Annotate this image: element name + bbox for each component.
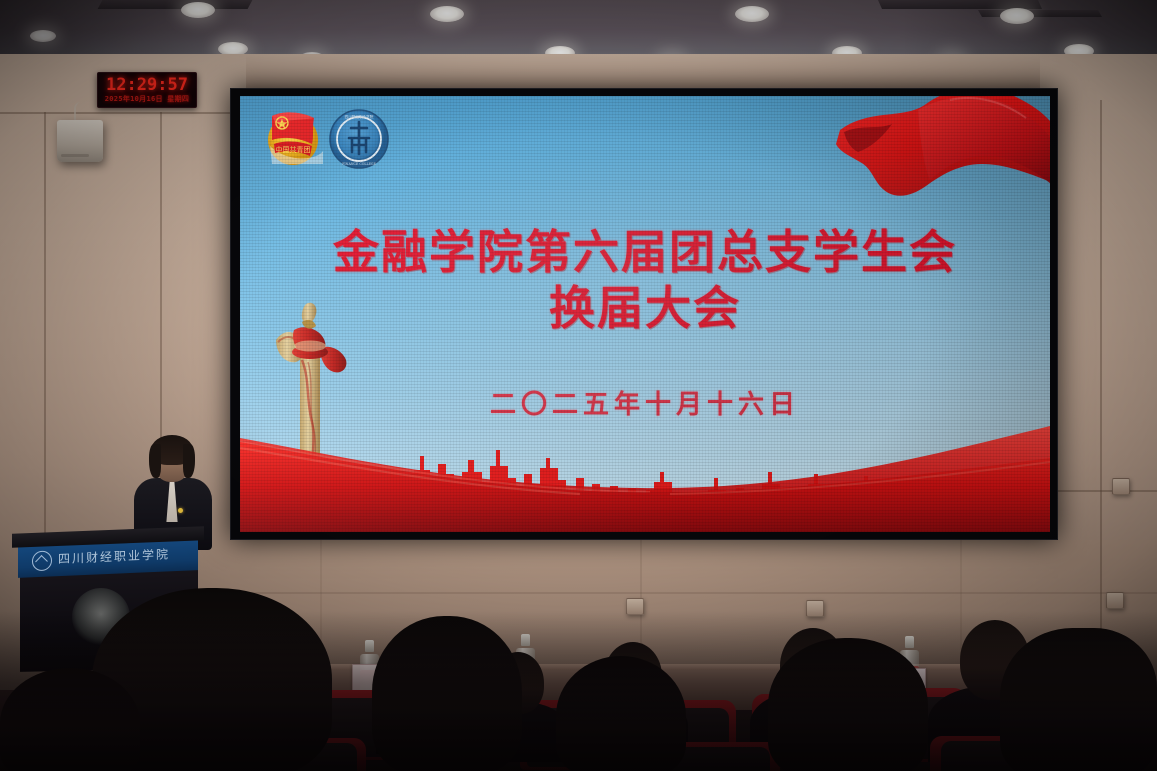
- wall-seam: [960, 540, 962, 660]
- svg-text:四川财经职业学院: 四川财经职业学院: [345, 114, 374, 119]
- downlight: [430, 6, 464, 22]
- speaker-hair: [183, 444, 195, 478]
- conference-hall-photo: 12:29:57 2025年10月16日 星期四: [0, 0, 1157, 771]
- wall-outlet[interactable]: [626, 598, 644, 615]
- wall-seam: [1100, 100, 1102, 660]
- speaker-hair: [149, 444, 161, 478]
- slide-title: 金融学院第六届团总支学生会 换届大会: [240, 224, 1050, 336]
- communist-youth-league-emblem-icon: 中国共青团: [262, 106, 324, 168]
- downlight: [735, 6, 769, 22]
- bottle-cap: [365, 640, 374, 652]
- audience-head-foreground: [1000, 628, 1157, 771]
- bottle-cap: [521, 634, 530, 646]
- downlight: [30, 30, 56, 42]
- wall-seam: [44, 112, 46, 552]
- wall-speaker-box: [57, 120, 103, 162]
- podium-college-name: 四川财经职业学院: [58, 545, 170, 567]
- wall-outlet[interactable]: [1112, 478, 1130, 495]
- ceiling-beam: [98, 0, 253, 9]
- wall-outlet[interactable]: [1106, 592, 1124, 609]
- led-screen[interactable]: 中国共青团 四川财经职业学院 FINANCE COLLEGE: [240, 96, 1050, 532]
- downlight: [181, 2, 215, 18]
- audience-head-foreground: [0, 668, 140, 771]
- audience-head-foreground: [556, 656, 686, 771]
- red-wave-front-icon: [240, 424, 1050, 532]
- speaker-lapel-pin: [178, 508, 183, 513]
- svg-text:中国共青团: 中国共青团: [276, 145, 311, 154]
- svg-text:FINANCE COLLEGE: FINANCE COLLEGE: [342, 162, 376, 166]
- slide-date: 二〇二五年十月十六日: [240, 384, 1050, 421]
- digital-wall-clock: 12:29:57 2025年10月16日 星期四: [97, 72, 197, 108]
- clock-date: 2025年10月16日 星期四: [98, 94, 196, 104]
- college-logo-icon: [32, 550, 52, 571]
- downlight: [1000, 8, 1034, 24]
- audience-head-foreground: [372, 616, 522, 771]
- wall-seam: [0, 112, 240, 114]
- slide-title-line2: 换届大会: [240, 280, 1050, 336]
- wall-seam: [150, 592, 1157, 594]
- clock-time: 12:29:57: [98, 75, 196, 95]
- slide-title-line1: 金融学院第六届团总支学生会: [333, 225, 957, 279]
- ceiling-beam: [978, 10, 1102, 17]
- school-badge-icon: 四川财经职业学院 FINANCE COLLEGE: [328, 108, 390, 170]
- audience-head-foreground: [768, 638, 928, 771]
- red-silk-ribbon-icon: [800, 96, 1050, 240]
- wall-outlet[interactable]: [806, 600, 824, 617]
- bottle-cap: [905, 636, 914, 648]
